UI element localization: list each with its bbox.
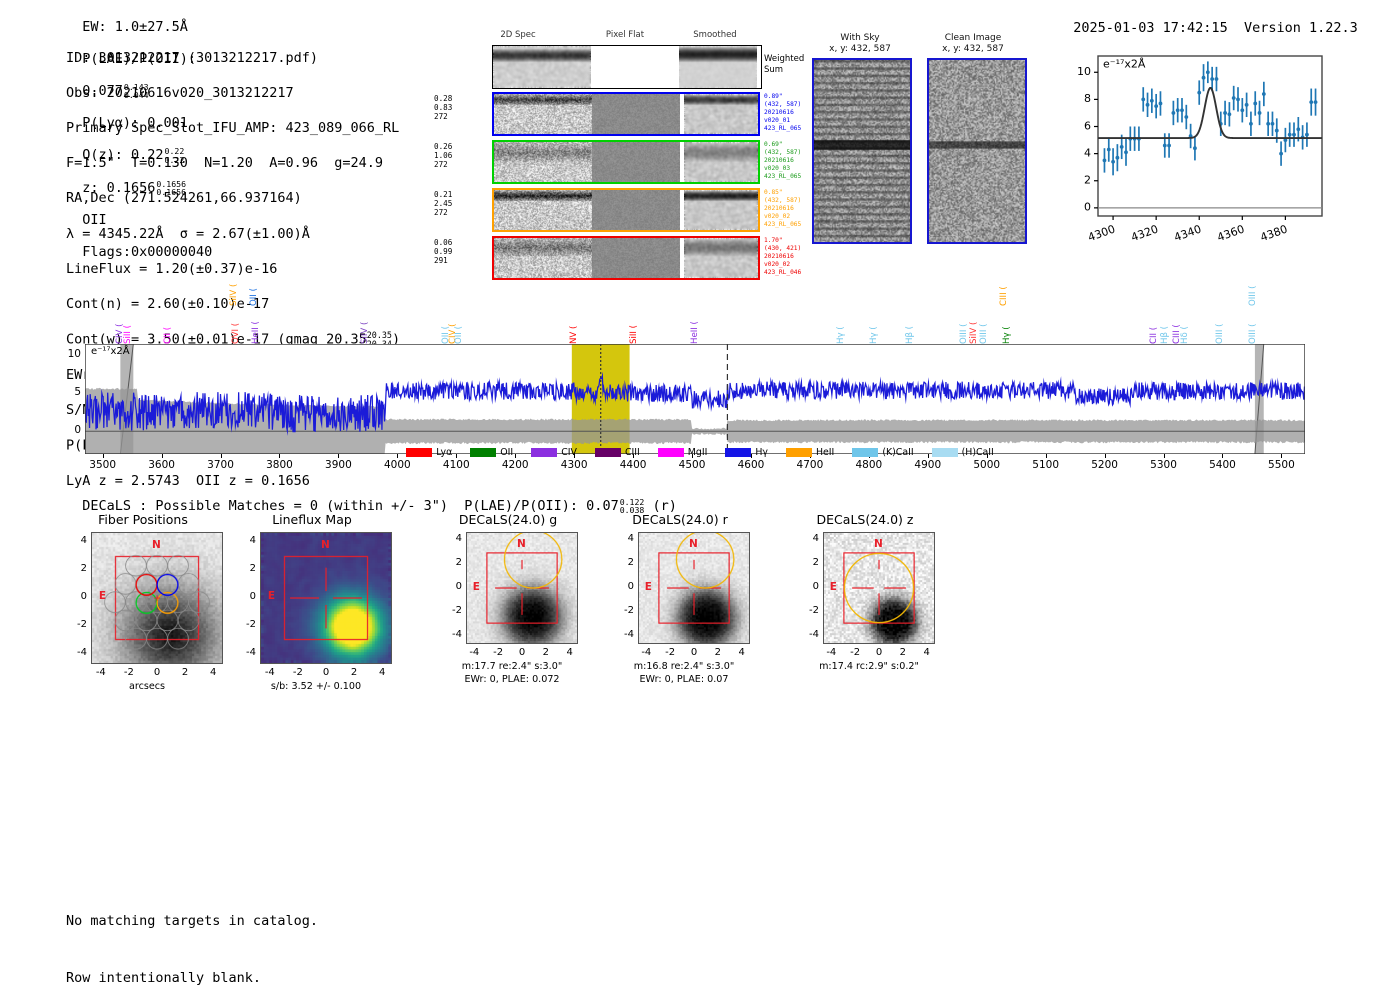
compass-east-label: E <box>473 581 480 593</box>
cutout-y-tick-label: -2 <box>797 605 819 616</box>
spectrum-x-tick-label: 4700 <box>790 459 830 471</box>
legend-swatch <box>932 448 958 457</box>
spectrum-x-tick-label: 4900 <box>908 459 948 471</box>
cutout-y-tick-label: 4 <box>797 533 819 544</box>
spectrum-x-tick-label: 3900 <box>318 459 358 471</box>
spectrum-x-tick-label: 4800 <box>849 459 889 471</box>
weighted-sum-smoothed-image <box>679 46 757 88</box>
compass-east-label: E <box>99 590 106 602</box>
emission-line-label: SiIV ( <box>229 272 239 306</box>
cutout-y-tick-label: -4 <box>440 629 462 640</box>
emission-line-label: HeII ( <box>251 308 261 344</box>
cutout-y-tick-label: -4 <box>65 647 87 658</box>
cutout-x-tick-label: 2 <box>176 667 194 678</box>
full-spectrum-panel: CIV (SiII (CII (OVI (SiIV (HeII (OII (Si… <box>0 264 1400 474</box>
spectrum-x-tick-label: 5400 <box>1202 459 1242 471</box>
spectrum-x-tick-label: 5000 <box>967 459 1007 471</box>
fiber-2d-spec-image <box>494 190 592 230</box>
emission-line-label: CII ( <box>163 308 173 344</box>
emission-line-label: SiIV ( <box>969 308 979 344</box>
cutout-footer-primary: m:17.4 rc:2.9" s:0.2" <box>799 661 939 673</box>
spectrum-x-tick-label: 5100 <box>1026 459 1066 471</box>
compass-east-label: E <box>268 590 275 602</box>
compass-north-label: N <box>152 539 161 551</box>
cutout-panel: Fiber Positions-4-4-2-2002244arcsecsNE <box>63 512 223 712</box>
cutout-y-tick-label: -2 <box>65 619 87 630</box>
cutout-y-tick-label: -2 <box>234 619 256 630</box>
meta-id: ID: 3013212217 (3013212217.pdf) <box>66 50 400 68</box>
cutout-y-tick-label: 4 <box>65 535 87 546</box>
cutout-x-tick-label: -2 <box>661 647 679 658</box>
meta-seeing: F=1.5" T=0.130 N=1.20 A=0.96 g=24.9 <box>66 155 400 173</box>
cutout-footer-secondary: EWr: 0, PLAE: 0.07 <box>614 674 754 686</box>
cutout-x-tick-label: 4 <box>733 647 751 658</box>
cutout-x-tick-label: 2 <box>537 647 555 658</box>
spectrum-x-tick-label: 5200 <box>1085 459 1125 471</box>
legend-item: CIV <box>531 447 577 458</box>
emission-line-label: Hγ ( <box>869 308 879 344</box>
cutout-y-tick-label: 4 <box>440 533 462 544</box>
emission-line-label: SiII ( <box>629 308 639 344</box>
column-title-smoothed: Smoothed <box>665 30 765 40</box>
emission-line-label: Hδ ( <box>1180 308 1190 344</box>
compass-north-label: N <box>874 538 883 550</box>
cutout-footer-primary: arcsecs <box>67 681 227 693</box>
cutout-y-tick-label: 0 <box>612 581 634 592</box>
spectrum-x-tick-label: 3600 <box>142 459 182 471</box>
spectrum-y-tick-label: 10 <box>59 348 81 360</box>
column-title-pixel-flat: Pixel Flat <box>580 30 670 40</box>
cutout-footer-primary: m:16.8 re:2.4" s:3.0" <box>614 661 754 673</box>
cutout-x-tick-label: 2 <box>345 667 363 678</box>
legend-item: OII <box>470 447 513 458</box>
cutout-x-tick-label: 0 <box>870 647 888 658</box>
cutout-y-tick-label: 0 <box>234 591 256 602</box>
emission-line-label: Hβ ( <box>1160 308 1170 344</box>
cutout-x-tick-label: -4 <box>92 667 110 678</box>
emission-line-label: SiIV ( <box>360 308 370 344</box>
clean-image-title: Clean Imagex, y: 432, 587 <box>918 33 1028 55</box>
emission-line-label: HeII ( <box>690 308 700 344</box>
cutout-x-tick-label: 0 <box>148 667 166 678</box>
spectrum-x-tick-label: 3500 <box>83 459 123 471</box>
fiber-row <box>492 140 760 184</box>
legend-swatch <box>852 448 878 457</box>
fiber-2d-spec-image <box>494 94 592 134</box>
timestamp: 2025-01-03 17:42:15 <box>1073 20 1227 36</box>
fiber-left-label: 0.26 1.06 272 <box>434 142 452 170</box>
cutout-footer-secondary: EWr: 0, PLAE: 0.072 <box>442 674 582 686</box>
cutout-x-tick-label: 0 <box>317 667 335 678</box>
cutout-x-tick-label: -4 <box>465 647 483 658</box>
emission-line-label: OIII ( <box>1248 308 1258 344</box>
cutout-y-tick-label: 2 <box>234 563 256 574</box>
legend-label: (K)CaII <box>882 447 913 458</box>
fiber-smoothed-image <box>684 142 758 182</box>
cutout-y-tick-label: 2 <box>612 557 634 568</box>
footer-line-1: No matching targets in catalog. <box>66 912 318 931</box>
legend-swatch <box>658 448 684 457</box>
spectrum-x-tick-label: 5500 <box>1261 459 1301 471</box>
cutout-y-tick-label: 0 <box>797 581 819 592</box>
legend-item: (K)CaII <box>852 447 913 458</box>
legend-label: HeII <box>816 447 834 458</box>
emission-line-label: OVI ( <box>231 308 241 344</box>
footer-note: No matching targets in catalog. Row inte… <box>66 874 318 1007</box>
meta-radec: RA,Dec (271.524261,66.937164) <box>66 190 400 208</box>
fiber-row <box>492 188 760 232</box>
legend-label: Hγ <box>755 447 768 458</box>
cutout-y-tick-label: 4 <box>234 535 256 546</box>
legend-label: CIII <box>625 447 640 458</box>
spectrum-x-tick-label: 4000 <box>377 459 417 471</box>
spectrum-legend: LyαOIICIVCIIIMgIIHγHeII(K)CaII(H)CaII <box>0 447 1400 458</box>
legend-label: CIV <box>561 447 577 458</box>
cutout-title: DECaLS(24.0) r <box>610 512 750 527</box>
legend-item: HeII <box>786 447 834 458</box>
cutout-y-tick-label: 2 <box>65 563 87 574</box>
cutout-image[interactable] <box>260 532 392 664</box>
fiber-smoothed-image <box>684 190 758 230</box>
meta-obs: Obs: 20210616v020_3013212217 <box>66 85 400 103</box>
cutout-footer-primary: m:17.7 re:2.4" s:3.0" <box>442 661 582 673</box>
spectrum-x-tick-label: 3800 <box>259 459 299 471</box>
cutout-x-tick-label: 4 <box>204 667 222 678</box>
compass-north-label: N <box>517 538 526 550</box>
twod-spectrum-panel: 2D Spec Pixel Flat Smoothed Weighted Sum… <box>430 30 810 260</box>
emission-line-label: CII ( <box>1149 308 1159 344</box>
cutout-title: Fiber Positions <box>63 512 223 527</box>
cutout-y-tick-label: 0 <box>65 591 87 602</box>
column-title-2d-spec: 2D Spec <box>458 30 578 40</box>
emission-line-label: SiII ( <box>123 308 133 344</box>
cutout-x-tick-label: -2 <box>489 647 507 658</box>
cutout-x-tick-label: -4 <box>637 647 655 658</box>
spectrum-y-tick-label: 0 <box>59 424 81 436</box>
fiber-right-label: 0.69" (432, 587) 20210616 v020_03 423_RL… <box>764 141 801 181</box>
emission-line-label: OIII ( <box>959 308 969 344</box>
spectrum-x-tick-label: 4200 <box>495 459 535 471</box>
fiber-right-label: 0.89" (432, 587) 20210616 v020_01 423_RL… <box>764 93 801 133</box>
header-timestamp-version: 2025-01-03 17:42:15 Version 1.22.3 <box>1057 4 1358 36</box>
fiber-left-label: 0.21 2.45 272 <box>434 190 452 218</box>
cutout-x-tick-label: -2 <box>846 647 864 658</box>
version: Version 1.22.3 <box>1244 20 1358 36</box>
legend-item: Hγ <box>725 447 768 458</box>
clean-image <box>927 58 1027 244</box>
cutout-panel: DECaLS(24.0) r-4-4-2-2002244m:16.8 re:2.… <box>610 512 750 712</box>
with-sky-image <box>812 58 912 244</box>
legend-swatch <box>531 448 557 457</box>
compass-east-label: E <box>830 581 837 593</box>
cutout-panel: Lineflux Map-4-4-2-2002244s/b: 3.52 +/- … <box>232 512 392 712</box>
legend-item: CIII <box>595 447 640 458</box>
spectrum-x-tick-label: 4600 <box>731 459 771 471</box>
weighted-sum-2d-image <box>493 46 591 88</box>
cutout-x-tick-label: 0 <box>685 647 703 658</box>
cutout-image[interactable] <box>91 532 223 664</box>
legend-label: Lyα <box>436 447 452 458</box>
cutout-y-tick-label: -4 <box>234 647 256 658</box>
fiber-right-label: 0.85" (432, 587) 20210616 v020_02 423_RL… <box>764 189 801 229</box>
emission-line-label: Hγ ( <box>1002 308 1012 344</box>
meta-lambda: λ = 4345.22Å σ = 2.67(±1.00)Å <box>66 226 400 244</box>
cutout-y-tick-label: -2 <box>440 605 462 616</box>
footer-line-2: Row intentionally blank. <box>66 969 318 988</box>
spectrum-x-tick-label: 4300 <box>554 459 594 471</box>
cutout-x-tick-label: 4 <box>918 647 936 658</box>
emission-line-label: NV ( <box>569 308 579 344</box>
fiber-pixel-flat-image <box>592 190 680 230</box>
cutout-x-tick-label: -2 <box>289 667 307 678</box>
weighted-sum-row <box>492 45 762 89</box>
fiber-2d-spec-image <box>494 142 592 182</box>
weighted-sum-flat-blank <box>591 46 679 88</box>
cutout-panel: DECaLS(24.0) z-4-4-2-2002244m:17.4 rc:2.… <box>795 512 935 712</box>
legend-label: OII <box>500 447 513 458</box>
spectrum-x-tick-label: 3700 <box>201 459 241 471</box>
emission-line-label: Hβ ( <box>905 308 915 344</box>
cutout-x-tick-label: -4 <box>261 667 279 678</box>
spectrum-flux-annotation: e⁻¹⁷x2Å <box>91 346 130 357</box>
cutout-y-tick-label: 2 <box>440 557 462 568</box>
cutout-title: DECaLS(24.0) g <box>438 512 578 527</box>
emission-line-label: OII ( <box>249 272 259 306</box>
cutout-y-tick-label: -4 <box>797 629 819 640</box>
decals-header: DECaLS : Possible Matches = 0 (within +/… <box>66 482 677 514</box>
spectrum-x-tick-label: 4400 <box>613 459 653 471</box>
legend-label: MgII <box>688 447 708 458</box>
cutout-x-tick-label: -4 <box>822 647 840 658</box>
meta-primary-spec: Primary Spec_Slot_IFU_AMP: 423_089_066_R… <box>66 120 400 138</box>
fiber-pixel-flat-image <box>592 142 680 182</box>
emission-line-label: OII ( <box>454 308 464 344</box>
cutout-title: DECaLS(24.0) z <box>795 512 935 527</box>
cutout-x-tick-label: 0 <box>513 647 531 658</box>
cutout-x-tick-label: -2 <box>120 667 138 678</box>
cutout-x-tick-label: 2 <box>709 647 727 658</box>
fiber-left-label: 0.28 0.83 272 <box>434 94 452 122</box>
cutout-footer-primary: s/b: 3.52 +/- 0.100 <box>236 681 396 693</box>
legend-swatch <box>406 448 432 457</box>
legend-item: Lyα <box>406 447 452 458</box>
legend-swatch <box>786 448 812 457</box>
emission-line-label: OIII ( <box>1215 308 1225 344</box>
spectrum-x-tick-label: 4500 <box>672 459 712 471</box>
emission-line-label: Hγ ( <box>836 308 846 344</box>
fiber-left-label: 0.06 0.99 291 <box>434 238 452 266</box>
emission-line-label: OIII ( <box>979 308 989 344</box>
cutout-y-tick-label: 2 <box>797 557 819 568</box>
cutout-y-tick-label: -2 <box>612 605 634 616</box>
compass-north-label: N <box>689 538 698 550</box>
legend-swatch <box>725 448 751 457</box>
spectrum-y-tick-label: 5 <box>59 386 81 398</box>
weighted-sum-label: Weighted Sum <box>764 54 804 76</box>
legend-item: (H)CaII <box>932 447 994 458</box>
cutout-y-tick-label: -4 <box>612 629 634 640</box>
cutout-x-tick-label: 4 <box>373 667 391 678</box>
spectrum-x-tick-label: 4100 <box>436 459 476 471</box>
cutout-y-tick-label: 4 <box>612 533 634 544</box>
legend-swatch <box>595 448 621 457</box>
cutout-panel: DECaLS(24.0) g-4-4-2-2002244m:17.7 re:2.… <box>438 512 578 712</box>
cutout-x-tick-label: 2 <box>894 647 912 658</box>
compass-east-label: E <box>645 581 652 593</box>
legend-label: (H)CaII <box>962 447 994 458</box>
fiber-row <box>492 92 760 136</box>
spectrum-x-tick-label: 5300 <box>1144 459 1184 471</box>
emission-line-label: OIII ( <box>1248 272 1258 306</box>
legend-swatch <box>470 448 496 457</box>
line-fit-plot <box>1036 44 1336 256</box>
fiber-pixel-flat-image <box>592 94 680 134</box>
compass-north-label: N <box>321 539 330 551</box>
cutout-y-tick-label: 0 <box>440 581 462 592</box>
fiber-smoothed-image <box>684 94 758 134</box>
cutout-title: Lineflux Map <box>232 512 392 527</box>
legend-item: MgII <box>658 447 708 458</box>
with-sky-title: With Skyx, y: 432, 587 <box>805 33 915 55</box>
emission-line-label: CIII ( <box>999 272 1009 306</box>
cutout-x-tick-label: 4 <box>561 647 579 658</box>
